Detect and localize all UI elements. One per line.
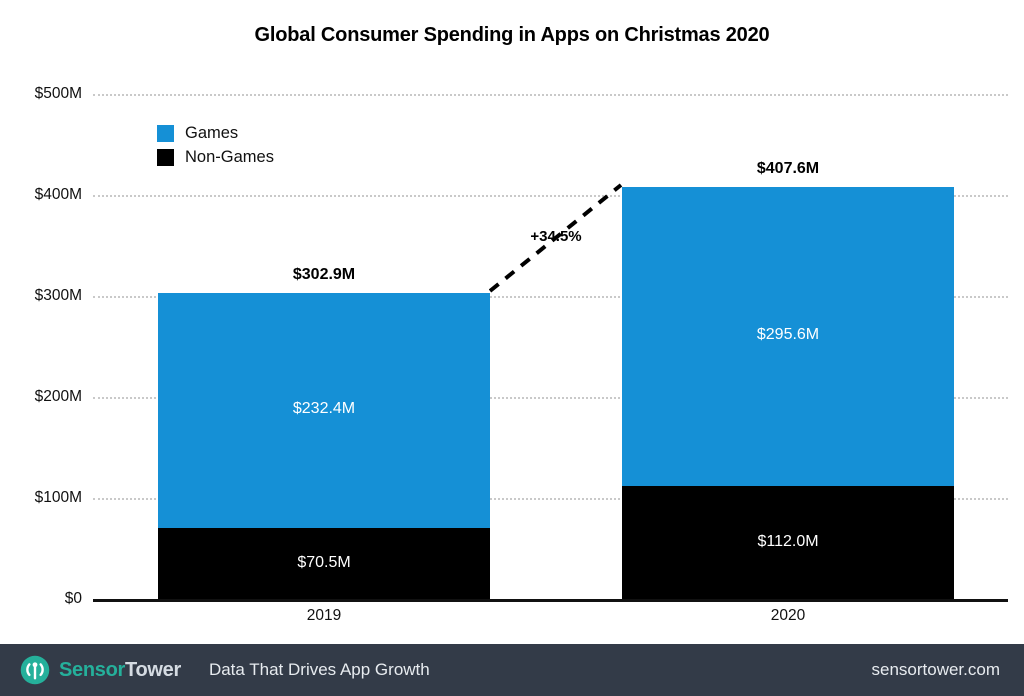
legend-label-games: Games	[185, 124, 238, 143]
bar-value-games-2020: $295.6M	[757, 326, 819, 344]
chart-legend: Games Non-Games	[157, 123, 274, 171]
bar-total-label-2019: $302.9M	[293, 266, 355, 284]
bar-total-label-2020: $407.6M	[757, 160, 819, 178]
y-tick-label-300: $300M	[10, 287, 82, 305]
y-tick-label-100: $100M	[10, 489, 82, 507]
sensortower-logo-icon	[20, 655, 50, 685]
brand-wordmark: SensorTower	[59, 659, 181, 682]
legend-item-games[interactable]: Games	[157, 123, 274, 144]
y-tick-label-200: $200M	[10, 388, 82, 406]
y-tick-label-500: $500M	[10, 85, 82, 103]
bar-value-nongames-2019: $70.5M	[297, 554, 350, 572]
footer-bar: SensorTower Data That Drives App Growth …	[0, 644, 1024, 696]
footer-tagline: Data That Drives App Growth	[209, 660, 430, 680]
footer-brand[interactable]: SensorTower	[20, 655, 181, 685]
legend-swatch-games-icon	[157, 125, 174, 142]
legend-item-nongames[interactable]: Non-Games	[157, 147, 274, 168]
growth-percentage-label: +34.5%	[530, 228, 581, 245]
brand-word-second: Tower	[125, 659, 181, 681]
legend-label-nongames: Non-Games	[185, 148, 274, 167]
bar-value-games-2019: $232.4M	[293, 400, 355, 418]
x-tick-label-2019: 2019	[307, 607, 341, 625]
legend-swatch-nongames-icon	[157, 149, 174, 166]
y-tick-label-400: $400M	[10, 186, 82, 204]
x-axis-line	[93, 599, 1008, 602]
y-tick-label-0: $0	[10, 590, 82, 608]
bar-value-nongames-2020: $112.0M	[757, 533, 818, 551]
brand-word-first: Sensor	[59, 659, 125, 681]
chart-plot-area: $500M $400M $300M $200M $100M $0 $232.4M…	[0, 0, 1024, 634]
x-tick-label-2020: 2020	[771, 607, 805, 625]
footer-website-link[interactable]: sensortower.com	[872, 660, 1001, 680]
